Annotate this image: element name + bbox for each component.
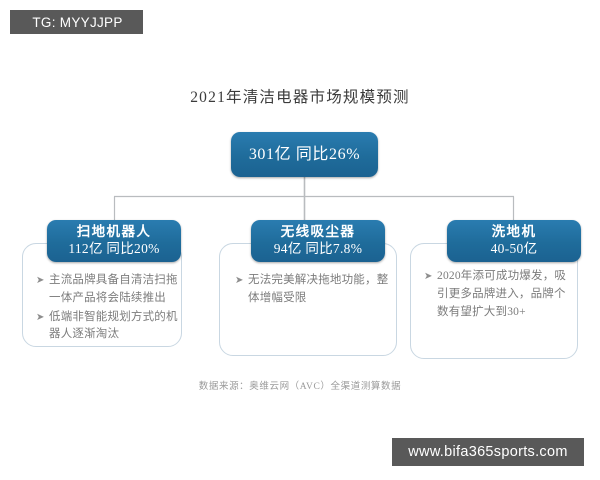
branch-node-2[interactable]: 无线吸尘器 94亿 同比7.8% [251,220,385,262]
source-note: 数据来源：奥维云网（AVC）全渠道测算数据 [0,378,600,392]
branch-node-3-name: 洗地机 [492,224,537,241]
root-node-label: 301亿 同比26% [249,145,360,165]
page-title: 2021年清洁电器市场规模预测 [0,85,600,107]
list-item: ➤ 低端非智能规划方式的机器人逐渐淘汰 [36,309,188,345]
branch-2-bullets: ➤ 无法完美解决拖地功能，整体增幅受限 [235,272,393,309]
bullet-text: 2020年添可成功爆发，吸引更多品牌进入，品牌个数有望扩大到30+ [437,268,576,321]
list-item: ➤ 主流品牌具备自清洁扫拖一体产品将会陆续推出 [36,272,188,308]
watermark-top-left: TG: MYYJJPP [10,10,143,34]
branch-node-3-value: 40-50亿 [491,241,538,258]
branch-1-bullets: ➤ 主流品牌具备自清洁扫拖一体产品将会陆续推出 ➤ 低端非智能规划方式的机器人逐… [36,272,188,345]
bullet-text: 主流品牌具备自清洁扫拖一体产品将会陆续推出 [49,272,188,308]
bullet-arrow-icon: ➤ [235,272,248,290]
list-item: ➤ 2020年添可成功爆发，吸引更多品牌进入，品牌个数有望扩大到30+ [424,268,576,321]
list-item: ➤ 无法完美解决拖地功能，整体增幅受限 [235,272,393,308]
bullet-arrow-icon: ➤ [424,268,437,286]
diagram-canvas: 2021年清洁电器市场规模预测 301亿 同比26% 扫地机器人 112亿 同比… [0,0,600,480]
branch-node-1-name: 扫地机器人 [77,224,152,241]
bullet-arrow-icon: ➤ [36,309,49,327]
branch-node-1[interactable]: 扫地机器人 112亿 同比20% [47,220,181,262]
watermark-bottom-right: www.bifa365sports.com [392,438,584,466]
branch-3-bullets: ➤ 2020年添可成功爆发，吸引更多品牌进入，品牌个数有望扩大到30+ [424,268,576,322]
bullet-text: 无法完美解决拖地功能，整体增幅受限 [248,272,393,308]
bullet-arrow-icon: ➤ [36,272,49,290]
branch-node-3[interactable]: 洗地机 40-50亿 [447,220,581,262]
branch-node-2-name: 无线吸尘器 [281,224,356,241]
bullet-text: 低端非智能规划方式的机器人逐渐淘汰 [49,309,188,345]
branch-node-1-value: 112亿 同比20% [68,241,159,258]
root-node[interactable]: 301亿 同比26% [231,132,378,177]
branch-node-2-value: 94亿 同比7.8% [274,241,363,258]
